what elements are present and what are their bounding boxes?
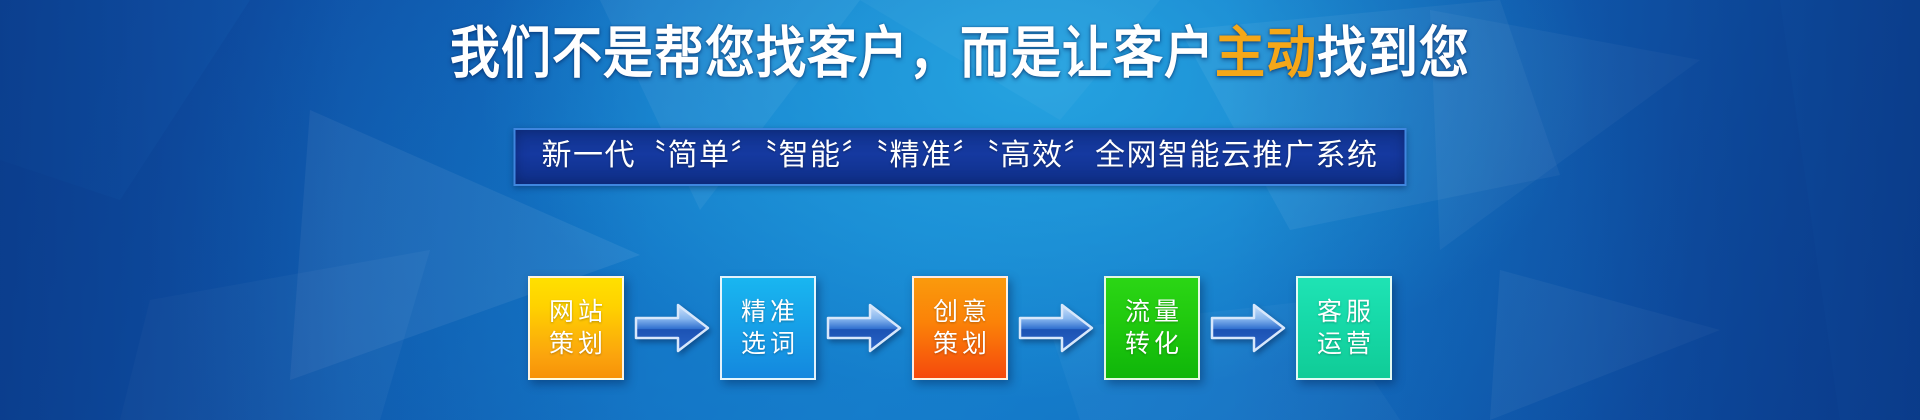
flow-connector-1	[624, 276, 720, 380]
headline-accent: 主动	[1215, 22, 1317, 85]
flow-step-label-line1: 客服	[1313, 296, 1375, 328]
process-flow: 网站 策划 精准 选词	[528, 276, 1392, 380]
page-title: 我们不是帮您找客户，而是让客户主动找到您	[0, 22, 1920, 85]
right-arrow-icon	[1210, 301, 1286, 355]
flow-step-service-operation[interactable]: 客服 运营	[1296, 276, 1392, 380]
flow-connector-2	[816, 276, 912, 380]
headline-part-after: 找到您	[1317, 22, 1470, 85]
right-arrow-icon	[1018, 301, 1094, 355]
subtitle-ribbon: 新一代〝简单〞〝智能〞〝精准〞〝高效〞全网智能云推广系统	[514, 128, 1407, 186]
flow-step-traffic-conversion[interactable]: 流量 转化	[1104, 276, 1200, 380]
flow-step-label-line1: 精准	[737, 296, 799, 328]
flow-step-label-line2: 选词	[737, 328, 799, 360]
flow-step-creative-planning[interactable]: 创意 策划	[912, 276, 1008, 380]
right-arrow-icon	[826, 301, 902, 355]
flow-step-label-line1: 网站	[545, 296, 607, 328]
flow-step-website-planning[interactable]: 网站 策划	[528, 276, 624, 380]
flow-step-label-line1: 创意	[929, 296, 991, 328]
headline-part-before: 我们不是帮您找客户，而是让客户	[450, 22, 1215, 85]
promo-banner: 我们不是帮您找客户，而是让客户主动找到您 新一代〝简单〞〝智能〞〝精准〞〝高效〞…	[0, 0, 1920, 420]
flow-step-label-line2: 转化	[1121, 328, 1183, 360]
flow-step-label-line2: 策划	[929, 328, 991, 360]
flow-step-label-line2: 运营	[1313, 328, 1375, 360]
right-arrow-icon	[634, 301, 710, 355]
subtitle-text: 新一代〝简单〞〝智能〞〝精准〞〝高效〞全网智能云推广系统	[542, 136, 1379, 176]
flow-connector-4	[1200, 276, 1296, 380]
flow-step-keyword-selection[interactable]: 精准 选词	[720, 276, 816, 380]
flow-connector-3	[1008, 276, 1104, 380]
flow-step-label-line1: 流量	[1121, 296, 1183, 328]
flow-step-label-line2: 策划	[545, 328, 607, 360]
